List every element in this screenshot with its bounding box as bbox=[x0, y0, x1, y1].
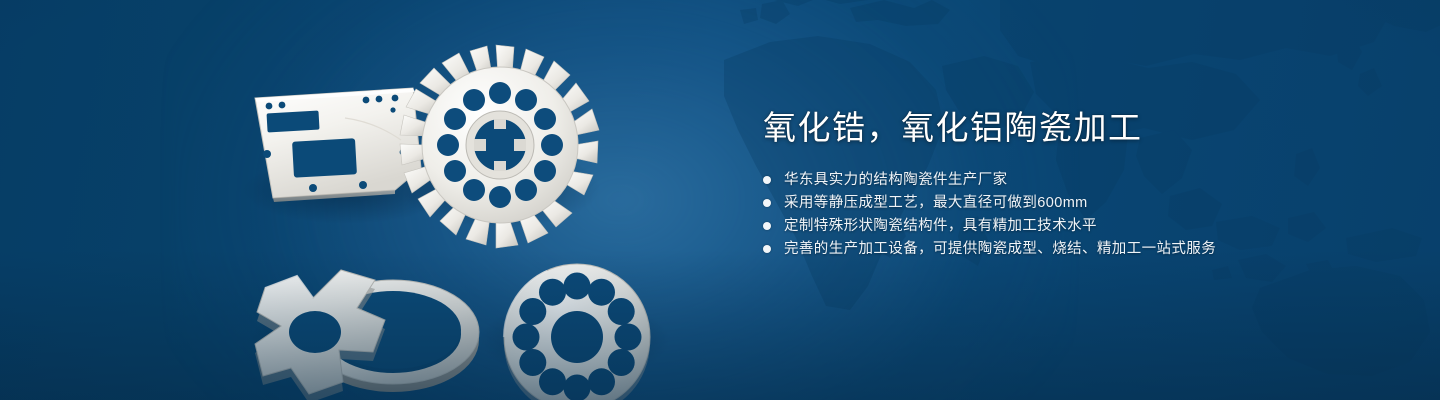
feature-text: 华东具实力的结构陶瓷件生产厂家 bbox=[784, 172, 1008, 188]
list-item: 采用等静压成型工艺，最大直径可做到600mm bbox=[763, 195, 1403, 211]
feature-text: 完善的生产加工设备，可提供陶瓷成型、烧结、精加工一站式服务 bbox=[784, 241, 1216, 257]
bullet-dot-icon bbox=[763, 199, 771, 207]
bullet-dot-icon bbox=[763, 245, 771, 253]
ceramic-processing-banner: 氧化锆，氧化铝陶瓷加工 华东具实力的结构陶瓷件生产厂家 采用等静压成型工艺，最大… bbox=[0, 0, 1440, 400]
bullet-dot-icon bbox=[763, 176, 771, 184]
bullet-dot-icon bbox=[763, 222, 771, 230]
list-item: 完善的生产加工设备，可提供陶瓷成型、烧结、精加工一站式服务 bbox=[763, 241, 1403, 257]
list-item: 定制特殊形状陶瓷结构件，具有精加工技术水平 bbox=[763, 218, 1403, 234]
banner-headline: 氧化锆，氧化铝陶瓷加工 bbox=[763, 106, 1403, 150]
background-bottom-fade bbox=[0, 250, 1440, 400]
list-item: 华东具实力的结构陶瓷件生产厂家 bbox=[763, 172, 1403, 188]
banner-copy: 氧化锆，氧化铝陶瓷加工 华东具实力的结构陶瓷件生产厂家 采用等静压成型工艺，最大… bbox=[763, 106, 1403, 264]
feature-list: 华东具实力的结构陶瓷件生产厂家 采用等静压成型工艺，最大直径可做到600mm 定… bbox=[763, 172, 1403, 257]
feature-text: 采用等静压成型工艺，最大直径可做到600mm bbox=[784, 195, 1088, 211]
feature-text: 定制特殊形状陶瓷结构件，具有精加工技术水平 bbox=[784, 218, 1097, 234]
